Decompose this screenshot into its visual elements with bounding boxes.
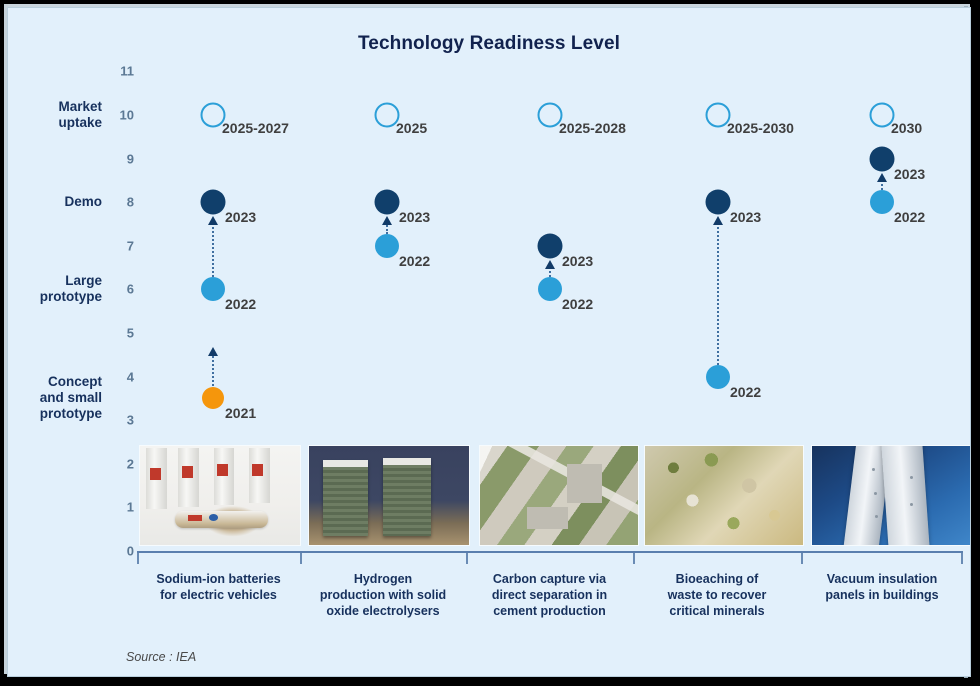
- y-tick-label: 4: [108, 369, 134, 384]
- marker-blue-4: [870, 190, 894, 214]
- marker-dark-3: [706, 190, 731, 215]
- marker-dark-1: [375, 190, 400, 215]
- progress-arrow-1: [208, 347, 218, 386]
- marker-dark-4: [870, 146, 895, 171]
- marker-label: 2023: [399, 209, 430, 225]
- marker-blue-3: [706, 365, 730, 389]
- progress-arrow-3: [545, 260, 555, 278]
- thumbnail-cement-plant-aerial-photo: [480, 446, 638, 545]
- x-category-label-4: Vacuum insulationpanels in buildings: [801, 571, 963, 603]
- arrow-head-icon: [382, 216, 392, 225]
- thumbnail-solid-oxide-electrolyser-stacks-photo: [309, 446, 469, 545]
- x-axis-tick-4: [801, 553, 803, 564]
- screenshot-frame: Technology Readiness Level 0123456789101…: [0, 0, 980, 686]
- thumbnail-mineral-waste-bioleaching-photo: [645, 446, 803, 545]
- arrow-stem: [717, 222, 719, 364]
- y-tick-label: 11: [108, 64, 134, 79]
- x-axis-tick-0: [137, 553, 139, 564]
- y-tick-label: 2: [108, 456, 134, 471]
- marker-label: 2022: [225, 296, 256, 312]
- y-tick-label: 9: [108, 151, 134, 166]
- y-tick-label: 10: [108, 108, 134, 123]
- marker-blue-0: [201, 277, 225, 301]
- x-axis-tick-5: [961, 553, 963, 564]
- marker-label: 2023: [562, 253, 593, 269]
- y-tick-label: 3: [108, 413, 134, 428]
- y-tick-label: 0: [108, 544, 134, 559]
- x-category-label-3: Bioeaching ofwaste to recovercritical mi…: [633, 571, 801, 619]
- x-category-label-1: Hydrogenproduction with solidoxide elect…: [300, 571, 466, 619]
- arrow-head-icon: [208, 347, 218, 356]
- arrow-stem: [212, 353, 214, 386]
- x-axis-line: [137, 551, 963, 553]
- marker-blue-1: [375, 234, 399, 258]
- arrow-head-icon: [877, 173, 887, 182]
- x-axis-tick-2: [466, 553, 468, 564]
- chart-card: Technology Readiness Level 0123456789101…: [8, 8, 970, 676]
- x-category-label-2: Carbon capture viadirect separation ince…: [466, 571, 633, 619]
- marker-label: 2023: [894, 166, 925, 182]
- y-tick-label: 8: [108, 195, 134, 210]
- y-band-label-2: Largeprototype: [8, 273, 102, 305]
- x-axis-tick-3: [633, 553, 635, 564]
- marker-label: 2022: [562, 296, 593, 312]
- x-category-label-0: Sodium-ion batteriesfor electric vehicle…: [137, 571, 300, 603]
- arrow-head-icon: [713, 216, 723, 225]
- marker-label: 2022: [399, 253, 430, 269]
- marker-label: 2021: [225, 405, 256, 421]
- marker-blue-2: [538, 277, 562, 301]
- progress-arrow-4: [713, 216, 723, 364]
- marker-label: 2023: [730, 209, 761, 225]
- marker-label: 2022: [730, 384, 761, 400]
- marker-label: 2022: [894, 209, 925, 225]
- marker-label: 2025-2027: [222, 120, 289, 136]
- arrow-head-icon: [208, 216, 218, 225]
- y-tick-label: 7: [108, 238, 134, 253]
- marker-label: 2030: [891, 120, 922, 136]
- y-band-label-0: Marketuptake: [8, 99, 102, 131]
- marker-label: 2025-2028: [559, 120, 626, 136]
- progress-arrow-2: [382, 216, 392, 234]
- thumbnail-vacuum-insulation-panels-photo: [812, 446, 970, 545]
- source-note: Source : IEA: [126, 650, 196, 664]
- thumbnail-sodium-ion-battery-cells-photo: [140, 446, 300, 545]
- y-tick-label: 1: [108, 500, 134, 515]
- progress-arrow-5: [877, 173, 887, 191]
- marker-dark-2: [538, 233, 563, 258]
- x-axis-tick-1: [300, 553, 302, 564]
- marker-label: 2023: [225, 209, 256, 225]
- marker-orange-0: [202, 387, 224, 409]
- marker-label: 2025-2030: [727, 120, 794, 136]
- y-tick-label: 6: [108, 282, 134, 297]
- progress-arrow-0: [208, 216, 218, 277]
- y-band-label-3: Conceptand smallprototype: [8, 374, 102, 422]
- plot-area: 01234567891011 MarketuptakeDemoLargeprot…: [8, 8, 970, 676]
- y-tick-label: 5: [108, 326, 134, 341]
- marker-dark-0: [201, 190, 226, 215]
- arrow-stem: [212, 222, 214, 277]
- arrow-head-icon: [545, 260, 555, 269]
- y-band-label-1: Demo: [8, 194, 102, 210]
- marker-label: 2025: [396, 120, 427, 136]
